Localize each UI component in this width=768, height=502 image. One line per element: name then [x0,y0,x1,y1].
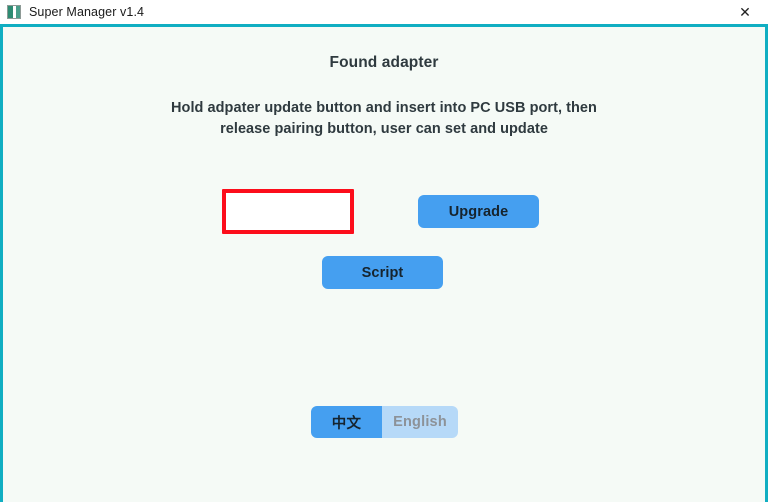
content-pane: Found adapter Hold adpater update button… [0,24,768,502]
upgrade-button[interactable]: Upgrade [418,195,539,228]
page-title: Found adapter [3,54,765,72]
app-window: Super Manager v1.4 ✕ Found adapter Hold … [0,0,768,502]
language-option-english[interactable]: English [382,406,458,438]
instruction-text: Hold adpater update button and insert in… [3,98,765,140]
close-icon[interactable]: ✕ [722,0,768,24]
configuration-button[interactable]: Configuration [226,195,347,228]
language-option-chinese[interactable]: 中文 [311,406,382,438]
title-bar: Super Manager v1.4 ✕ [0,0,768,24]
window-title: Super Manager v1.4 [29,0,144,24]
instruction-line-2: release pairing button, user can set and… [3,119,765,140]
language-switch: 中文 English [311,406,458,438]
script-button[interactable]: Script [322,256,443,289]
app-tile-icon [7,5,21,19]
instruction-line-1: Hold adpater update button and insert in… [3,98,765,119]
